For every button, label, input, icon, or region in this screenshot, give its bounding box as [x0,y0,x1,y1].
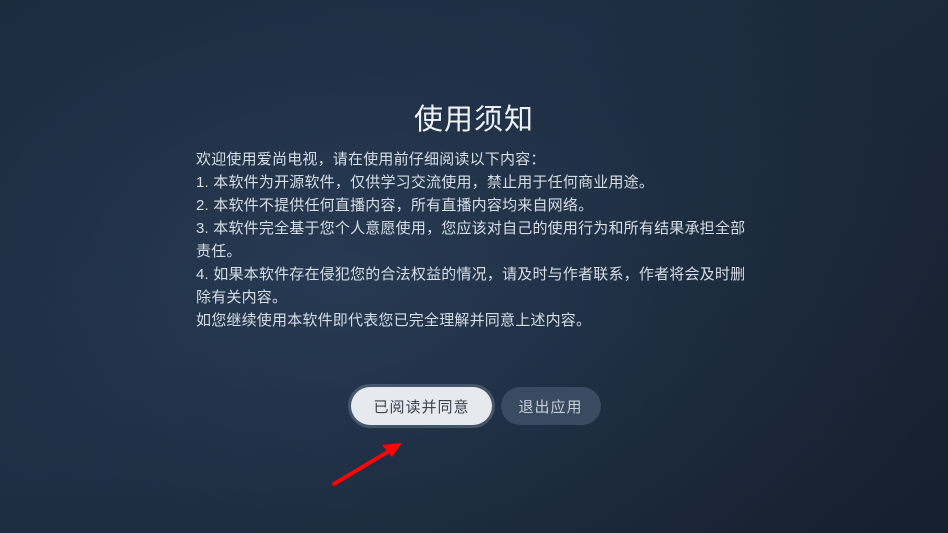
notice-body: 欢迎使用爱尚电视，请在使用前仔细阅读以下内容： 1. 本软件为开源软件，仅供学习… [196,148,752,332]
agree-button[interactable]: 已阅读并同意 [351,387,491,425]
app-root: 使用须知 欢迎使用爱尚电视，请在使用前仔细阅读以下内容： 1. 本软件为开源软件… [0,0,948,533]
notice-line-closing: 如您继续使用本软件即代表您已完全理解并同意上述内容。 [196,309,752,332]
usage-notice-dialog: 使用须知 欢迎使用爱尚电视，请在使用前仔细阅读以下内容： 1. 本软件为开源软件… [0,0,948,533]
exit-app-button[interactable]: 退出应用 [501,387,601,425]
notice-line-item-1: 1. 本软件为开源软件，仅供学习交流使用，禁止用于任何商业用途。 [196,171,752,194]
page-title: 使用须知 [0,101,948,139]
notice-line-item-3: 3. 本软件完全基于您个人意愿使用，您应该对自己的使用行为和所有结果承担全部责任… [196,217,752,263]
notice-line-item-2: 2. 本软件不提供任何直播内容，所有直播内容均来自网络。 [196,194,752,217]
notice-line-intro: 欢迎使用爱尚电视，请在使用前仔细阅读以下内容： [196,148,752,171]
notice-line-item-4: 4. 如果本软件存在侵犯您的合法权益的情况，请及时与作者联系，作者将会及时删除有… [196,263,752,309]
dialog-button-row: 已阅读并同意 退出应用 [0,387,948,425]
